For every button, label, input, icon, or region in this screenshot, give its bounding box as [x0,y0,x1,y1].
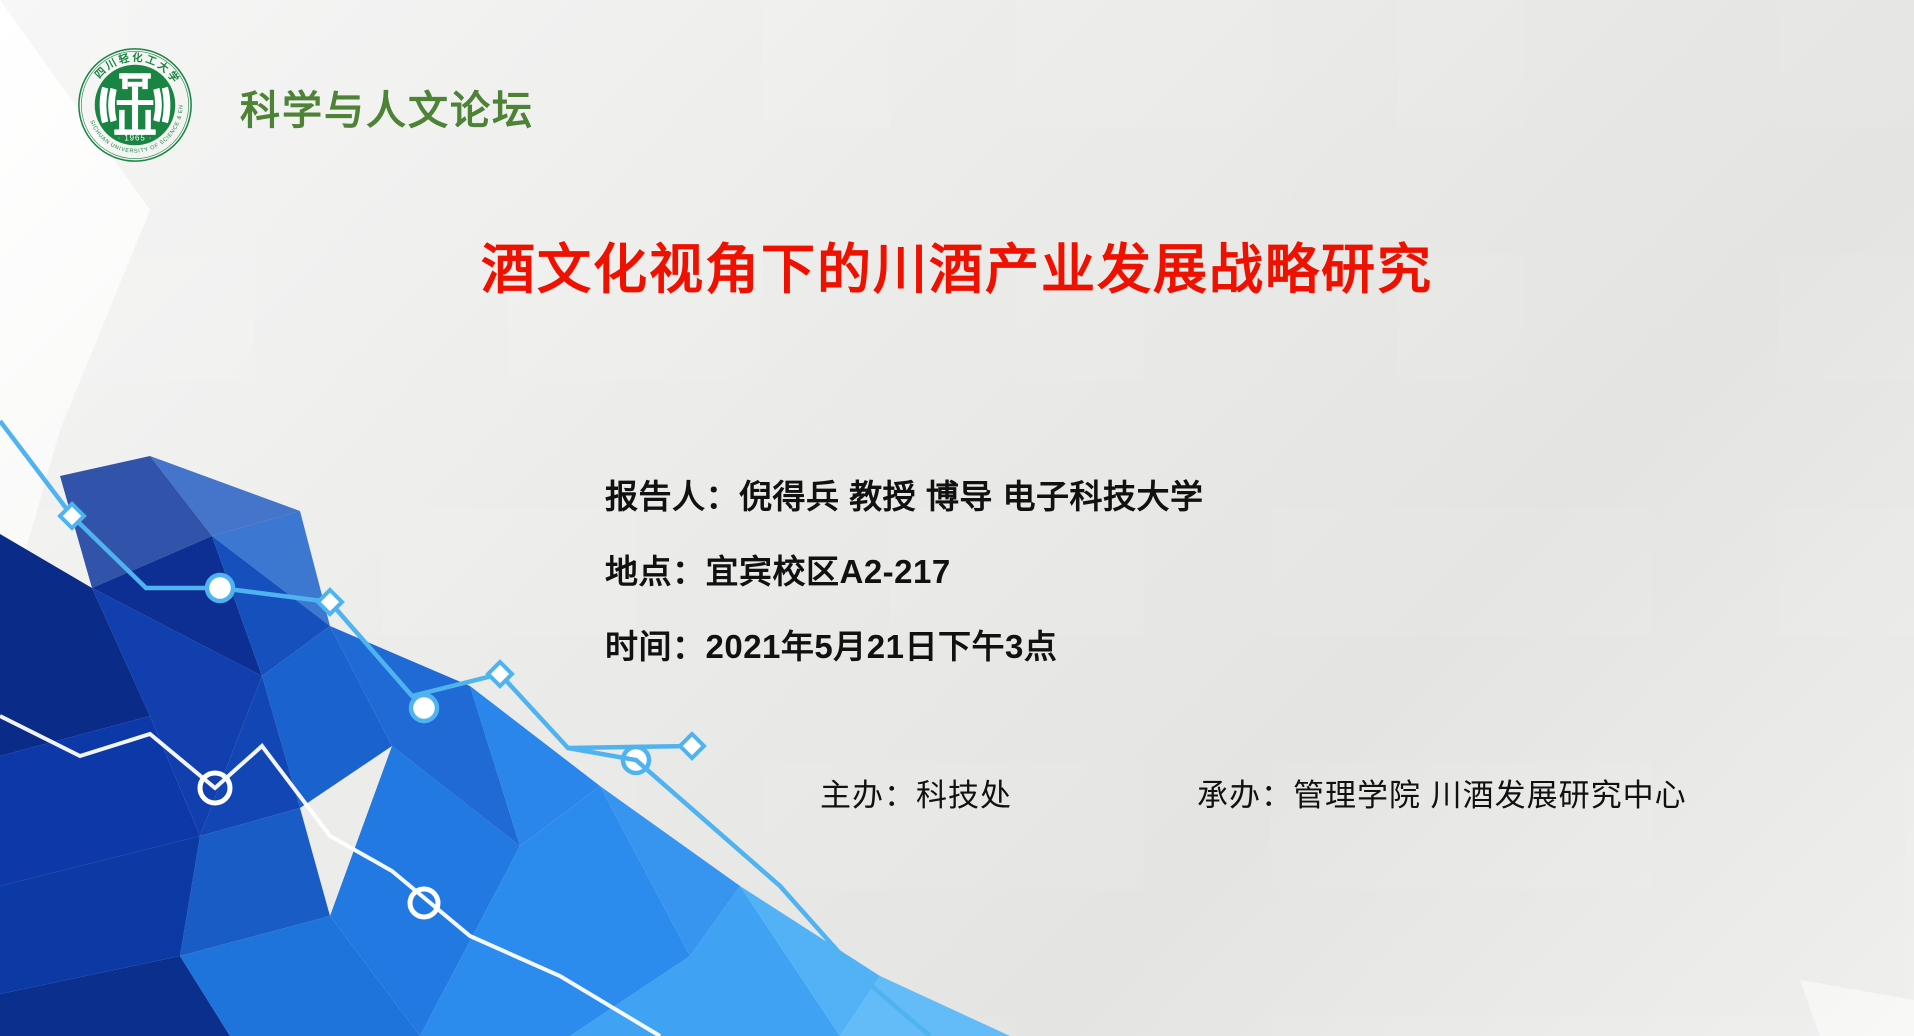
time-line: 时间：2021年5月21日下午3点 [605,620,1204,668]
presentation-slide: · 1965 · 四川轻化工大学 SICHUAN UNIVERSITY OF S… [0,0,1914,1036]
circle-markers [207,575,649,773]
university-seal-logo: · 1965 · 四川轻化工大学 SICHUAN UNIVERSITY OF S… [74,44,196,166]
svg-text:· 1965 ·: · 1965 · [118,133,153,142]
lecture-info-block: 报告人：倪得兵 教授 博导 电子科技大学 地点：宜宾校区A2-217 时间：20… [605,470,1204,695]
cohost-organiser: 承办：管理学院 川酒发展研究中心 [1197,770,1687,815]
location-line: 地点：宜宾校区A2-217 [605,545,1204,593]
organisers-row: 主办：科技处 承办：管理学院 川酒发展研究中心 [820,770,1830,815]
forum-title: 科学与人文论坛 [240,78,534,136]
host-organiser: 主办：科技处 [820,770,1012,815]
slide-header: · 1965 · 四川轻化工大学 SICHUAN UNIVERSITY OF S… [0,0,1914,190]
speaker-line: 报告人：倪得兵 教授 博导 电子科技大学 [605,470,1204,518]
presentation-title: 酒文化视角下的川酒产业发展战略研究 [0,225,1914,304]
white-decor-line [0,716,660,1036]
light-blue-chart-line [0,421,692,748]
